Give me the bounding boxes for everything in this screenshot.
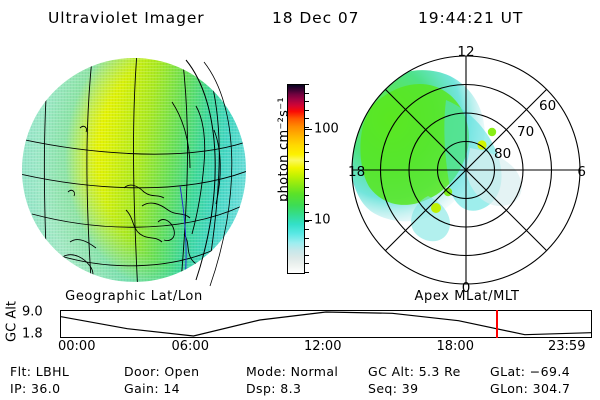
altitude-xtick-label: 06:00 bbox=[172, 339, 209, 354]
colorbar-major-tick bbox=[304, 129, 312, 130]
colorbar-minor-tick bbox=[304, 135, 309, 136]
altitude-xtick-label: 18:00 bbox=[437, 339, 474, 354]
colorbar-gradient bbox=[287, 84, 305, 274]
polar-grid bbox=[352, 56, 580, 284]
colorbar-minor-tick bbox=[304, 263, 309, 264]
mlat-label-80: 80 bbox=[494, 146, 511, 162]
instrument-title: Ultraviolet Imager bbox=[48, 9, 205, 27]
coastlines bbox=[26, 102, 220, 290]
altitude-xtick-label: 23:59 bbox=[548, 339, 585, 354]
colorbar-minor-tick bbox=[304, 212, 309, 213]
altitude-ytick-min: 1.8 bbox=[22, 327, 43, 342]
status-field: Flt: LBHL bbox=[10, 364, 69, 379]
colorbar-minor-tick bbox=[304, 144, 309, 145]
colorbar-minor-tick bbox=[304, 118, 309, 119]
colorbar-panel: photon cm⁻²s⁻¹ 10010 bbox=[262, 46, 340, 296]
colorbar-minor-tick bbox=[304, 93, 309, 94]
status-field: GC Alt: 5.3 Re bbox=[368, 364, 461, 379]
colorbar-minor-tick bbox=[304, 238, 309, 239]
altitude-axis-title: GC Alt bbox=[5, 299, 20, 345]
status-field: GLon: 304.7 bbox=[490, 381, 570, 396]
mlt-label-12: 12 bbox=[457, 44, 474, 60]
colorbar-minor-tick bbox=[304, 195, 309, 196]
observation-date: 18 Dec 07 bbox=[272, 9, 359, 27]
colorbar-minor-tick bbox=[304, 187, 309, 188]
colorbar-minor-tick bbox=[304, 101, 309, 102]
colorbar-minor-tick bbox=[304, 255, 309, 256]
status-field: Mode: Normal bbox=[246, 364, 338, 379]
status-footer: Flt: LBHLDoor: OpenMode: NormalGC Alt: 5… bbox=[0, 362, 600, 400]
colorbar-major-tick bbox=[304, 220, 312, 221]
uvi-screenshot: Ultraviolet Imager 18 Dec 07 19:44:21 UT bbox=[0, 0, 600, 400]
polar-plot: 12 18 6 0 60 70 80 bbox=[342, 40, 592, 296]
mlat-label-70: 70 bbox=[517, 124, 534, 140]
header-bar: Ultraviolet Imager 18 Dec 07 19:44:21 UT bbox=[0, 6, 600, 30]
colorbar-minor-tick bbox=[304, 178, 309, 179]
status-field: Dsp: 8.3 bbox=[246, 381, 301, 396]
mlt-label-18: 18 bbox=[348, 164, 365, 180]
altitude-ytick-max: 9.0 bbox=[22, 305, 43, 320]
polar-mlat-mlt-panel: 12 18 6 0 60 70 80 Apex MLat/MLT bbox=[342, 40, 592, 296]
colorbar-minor-tick bbox=[304, 161, 309, 162]
magnetic-footprint-track bbox=[180, 186, 186, 290]
colorbar-tick-label: 10 bbox=[314, 213, 331, 228]
altitude-xtick-label: 12:00 bbox=[304, 339, 341, 354]
colorbar-minor-tick bbox=[304, 272, 309, 273]
geographic-globe-panel: Geographic Lat/Lon bbox=[8, 46, 260, 296]
mlat-label-60: 60 bbox=[539, 98, 556, 114]
status-field: Door: Open bbox=[124, 364, 199, 379]
altitude-xtick-label: 00:00 bbox=[58, 339, 95, 354]
status-field: Seq: 39 bbox=[368, 381, 418, 396]
altitude-curve bbox=[61, 311, 591, 337]
status-field: IP: 36.0 bbox=[10, 381, 60, 396]
status-field: Gain: 14 bbox=[124, 381, 180, 396]
colorbar-minor-tick bbox=[304, 246, 309, 247]
colorbar-minor-tick bbox=[304, 84, 309, 85]
altitude-timeline-panel: GC Alt 9.0 1.8 00:0006:0012:0018:0023:59 bbox=[0, 296, 600, 358]
colorbar-minor-tick bbox=[304, 152, 309, 153]
colorbar-minor-tick bbox=[304, 169, 309, 170]
globe-overlay bbox=[8, 46, 260, 296]
colorbar-minor-tick bbox=[304, 229, 309, 230]
altitude-plot-box bbox=[60, 310, 592, 338]
status-field: GLat: −69.4 bbox=[490, 364, 570, 379]
current-time-marker bbox=[496, 310, 498, 338]
mlt-label-6: 6 bbox=[577, 164, 586, 180]
colorbar-minor-tick bbox=[304, 110, 309, 111]
colorbar-tick-label: 100 bbox=[314, 122, 339, 137]
observation-time: 19:44:21 UT bbox=[418, 9, 523, 27]
altitude-polyline bbox=[61, 312, 591, 336]
colorbar-minor-tick bbox=[304, 127, 309, 128]
colorbar-minor-tick bbox=[304, 204, 309, 205]
